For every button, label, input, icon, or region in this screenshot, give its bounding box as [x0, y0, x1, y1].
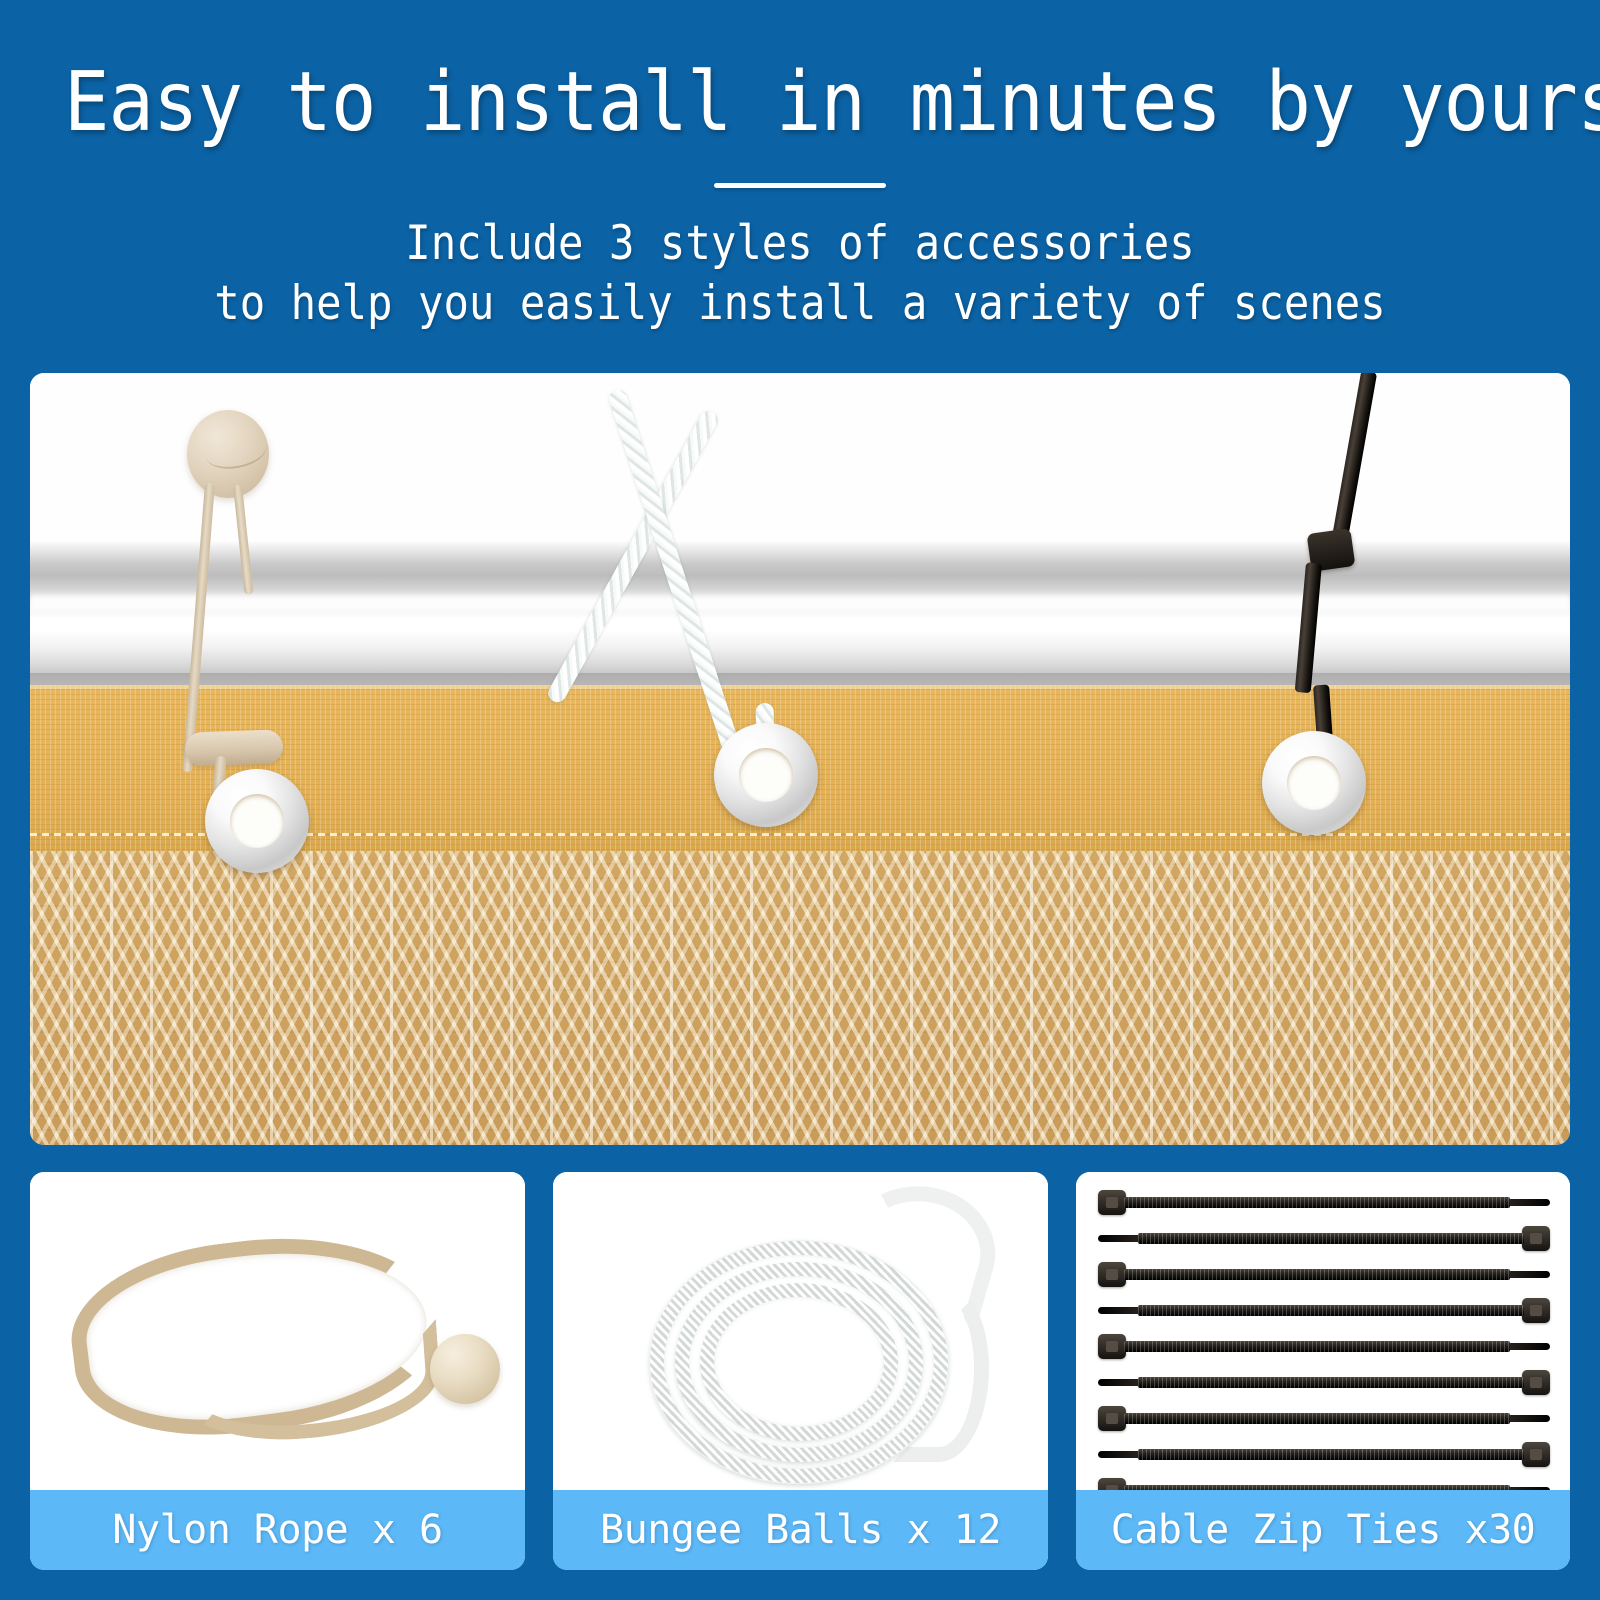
tape-top-edge	[30, 685, 1570, 689]
elastic-loop-lower	[176, 1319, 443, 1447]
zip-tie-head-icon	[1098, 1262, 1126, 1287]
bungee-ball-icon	[430, 1334, 500, 1404]
card-art-bungee-ball-loop	[30, 1172, 525, 1490]
zip-tie-icon	[1098, 1296, 1550, 1324]
header-section: Easy to install in minutes by yourself I…	[0, 0, 1600, 373]
zip-tie-body	[1138, 1377, 1524, 1388]
subtitle-line-2: to help you easily install a variety of …	[80, 274, 1520, 334]
zip-tie-icon	[1098, 1224, 1550, 1252]
zip-tie-head-icon	[1098, 1478, 1126, 1490]
card-art-coiled-rope	[553, 1172, 1048, 1490]
zip-tie-tip	[1098, 1379, 1138, 1386]
zip-tie-tip	[1510, 1271, 1550, 1278]
zip-tie-icon	[1098, 1188, 1550, 1216]
hero-installation-photo	[30, 373, 1570, 1145]
zip-tie-tip	[1098, 1307, 1138, 1314]
zip-tie-body	[1124, 1197, 1510, 1208]
page-title: Easy to install in minutes by yourself	[64, 62, 1536, 144]
zip-tie-icon	[1098, 1332, 1550, 1360]
grommet-right	[1262, 731, 1366, 835]
zip-tie-head-icon	[1098, 1190, 1126, 1215]
knitted-mesh-fabric	[30, 851, 1570, 1145]
accessory-card-bungee-balls[interactable]: Bungee Balls x 12	[553, 1172, 1048, 1570]
card-art-zip-ties	[1076, 1172, 1570, 1490]
pole-highlight	[30, 595, 1570, 611]
grommet-left	[205, 769, 309, 873]
accessory-card-nylon-rope[interactable]: Nylon Rope x 6	[30, 1172, 525, 1570]
bungee-cord-knot	[184, 729, 283, 766]
zip-tie-head-icon	[1522, 1298, 1550, 1323]
zip-tie-icon	[1098, 1476, 1550, 1490]
zip-tie-icon	[1098, 1404, 1550, 1432]
zip-tie-icon	[1098, 1368, 1550, 1396]
zip-tie-tip	[1510, 1415, 1550, 1422]
zip-tie-body	[1124, 1413, 1510, 1424]
accessory-card-cable-zip-ties[interactable]: Cable Zip Ties x30	[1076, 1172, 1570, 1570]
zip-tie-head-icon	[1522, 1442, 1550, 1467]
subtitle-line-1: Include 3 styles of accessories	[80, 214, 1520, 274]
zip-tie-head-icon	[1522, 1226, 1550, 1251]
zip-tie-body	[1124, 1341, 1510, 1352]
card-label-bungee-balls: Bungee Balls x 12	[553, 1490, 1048, 1570]
zip-tie-tip	[1098, 1235, 1138, 1242]
zip-tie-body	[1138, 1233, 1524, 1244]
zip-tie-body	[1124, 1269, 1510, 1280]
zip-tie-body	[1138, 1305, 1524, 1316]
zip-tie-head-icon	[1522, 1370, 1550, 1395]
zip-tie-icon	[1098, 1260, 1550, 1288]
zip-tie-head-icon	[1098, 1334, 1126, 1359]
title-divider	[714, 183, 886, 188]
rope-coil-inner	[701, 1284, 897, 1440]
card-label-nylon-rope: Nylon Rope x 6	[30, 1490, 525, 1570]
zip-tie-tip	[1098, 1451, 1138, 1458]
zip-tie-body	[1138, 1449, 1524, 1460]
subtitle: Include 3 styles of accessories to help …	[80, 214, 1520, 334]
zip-tie-tip	[1510, 1199, 1550, 1206]
zip-tie-tip	[1510, 1343, 1550, 1350]
zip-tie-head-icon	[1098, 1406, 1126, 1431]
zip-tie-icon	[1098, 1440, 1550, 1468]
card-label-cable-zip-ties: Cable Zip Ties x30	[1076, 1490, 1570, 1570]
zip-tie-stack	[1076, 1172, 1570, 1490]
grommet-center	[714, 723, 818, 827]
